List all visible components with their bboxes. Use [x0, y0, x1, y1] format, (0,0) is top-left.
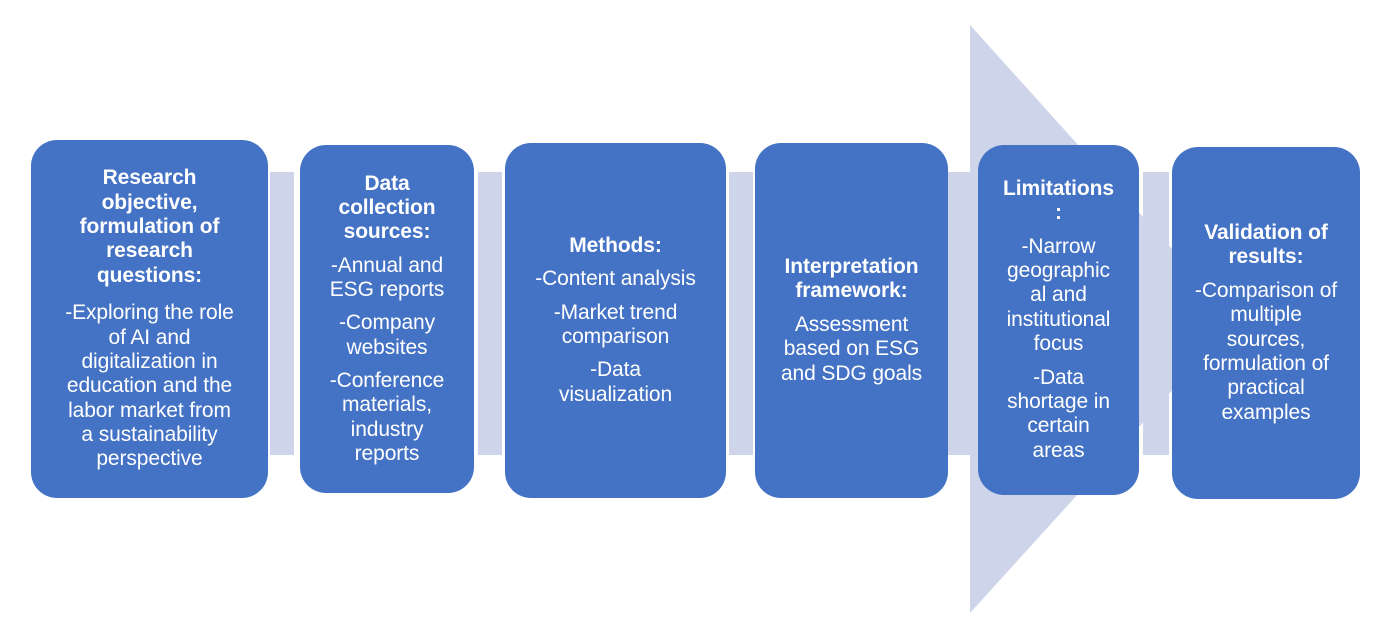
- step-5-body-item-2: -Data shortage in certain areas: [1007, 366, 1110, 463]
- step-2-body-item-2: -Company websites: [339, 311, 435, 360]
- process-step-box-2[interactable]: Data collection sources: -Annual and ESG…: [300, 145, 474, 493]
- step-6-heading: Validation of results:: [1204, 221, 1328, 270]
- process-step-box-5[interactable]: Limitations : -Narrow geographic al and …: [978, 145, 1139, 495]
- step-2-heading: Data collection sources:: [338, 172, 435, 245]
- step-2-body-item-1: -Annual and ESG reports: [330, 254, 444, 303]
- step-5-heading: Limitations :: [1003, 177, 1114, 226]
- connector-bar: [729, 172, 753, 455]
- connector-bar: [478, 172, 502, 455]
- arrow-shaft-shape-right: [1143, 172, 1169, 455]
- step-1-body-item-1: -Exploring the role of AI and digitaliza…: [65, 301, 234, 472]
- process-step-box-1[interactable]: Research objective, formulation of resea…: [31, 140, 268, 498]
- process-step-box-3[interactable]: Methods: -Content analysis -Market trend…: [505, 143, 726, 498]
- diagram-canvas: Research objective, formulation of resea…: [0, 0, 1388, 640]
- step-6-body-item-1: -Comparison of multiple sources, formula…: [1195, 279, 1337, 425]
- connector-bar: [270, 172, 294, 455]
- step-4-body-item-1: Assessment based on ESG and SDG goals: [781, 313, 922, 386]
- step-2-body-item-3: -Conference materials, industry reports: [330, 369, 444, 466]
- process-step-box-6[interactable]: Validation of results: -Comparison of mu…: [1172, 147, 1360, 499]
- step-1-heading: Research objective, formulation of resea…: [80, 166, 220, 288]
- step-4-heading: Interpretation framework:: [785, 255, 919, 304]
- step-3-body-item-2: -Market trend comparison: [554, 301, 678, 350]
- step-3-heading: Methods:: [569, 234, 662, 258]
- step-3-body-item-3: -Data visualization: [559, 358, 672, 407]
- step-5-body-item-1: -Narrow geographic al and institutional …: [1007, 235, 1111, 357]
- step-3-body-item-1: -Content analysis: [535, 267, 696, 291]
- process-step-box-4[interactable]: Interpretation framework: Assessment bas…: [755, 143, 948, 498]
